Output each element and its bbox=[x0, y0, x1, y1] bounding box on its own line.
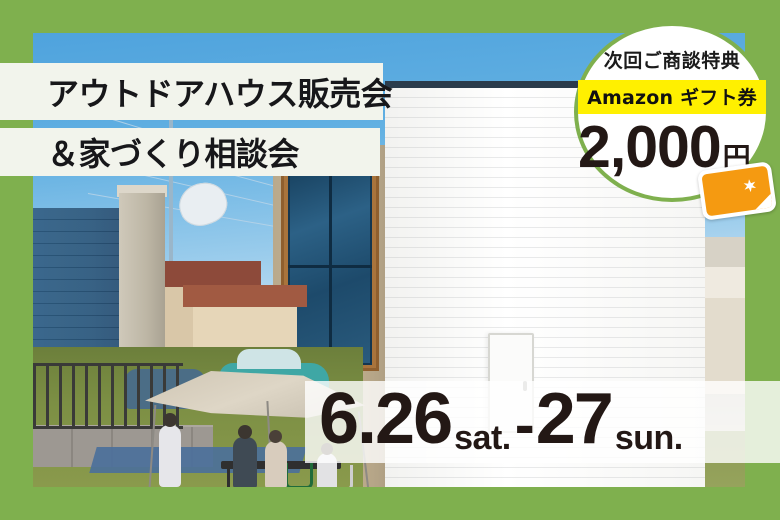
promo-badge-top-label: 次回ご商談特典 bbox=[604, 46, 741, 73]
event-date-dash: - bbox=[515, 395, 535, 455]
event-weekday-end: sun. bbox=[615, 421, 683, 455]
camping-chair bbox=[285, 463, 313, 487]
gift-card-icon bbox=[697, 161, 777, 221]
person bbox=[159, 425, 181, 487]
person bbox=[233, 437, 257, 487]
event-date-banner: 6.26 sat. - 27 sun. bbox=[305, 381, 780, 463]
headline-bar-secondary: ＆家づくり相談会 bbox=[0, 128, 380, 176]
headline-bar-primary: アウトドアハウス販売会 bbox=[0, 63, 383, 120]
sparkle-icon bbox=[743, 178, 758, 193]
event-date-start: 6.26 bbox=[319, 383, 451, 455]
headline-line-2: ＆家づくり相談会 bbox=[47, 129, 299, 175]
headline-line-1: アウトドアハウス販売会 bbox=[47, 69, 392, 115]
poster-root: アウトドアハウス販売会 ＆家づくり相談会 次回ご商談特典 Amazon ギフト券… bbox=[0, 0, 780, 520]
roof bbox=[183, 285, 307, 307]
event-weekday-start: sat. bbox=[454, 421, 511, 455]
large-window bbox=[288, 167, 372, 365]
promo-badge-amount: 2,000 bbox=[578, 118, 721, 177]
promo-badge-highlight: Amazon ギフト券 bbox=[578, 80, 766, 114]
event-date-end: 27 bbox=[536, 383, 612, 455]
window-mullion bbox=[288, 265, 372, 268]
person bbox=[265, 441, 287, 487]
gift-card-stripe bbox=[721, 192, 777, 221]
